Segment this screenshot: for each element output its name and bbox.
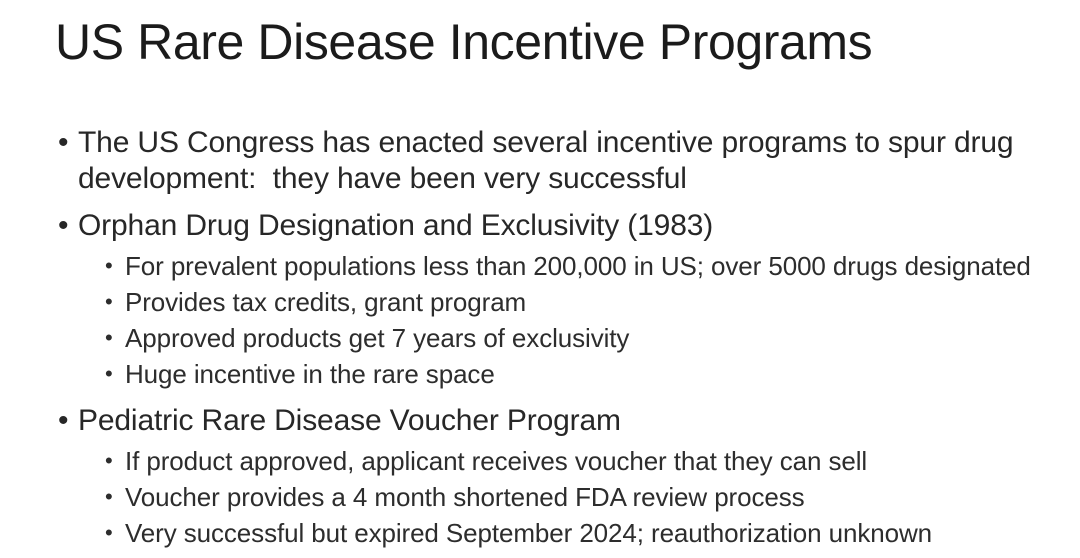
sub-bullet-marker-icon: •: [105, 320, 118, 356]
bullet-block: • Pediatric Rare Disease Voucher Program…: [0, 403, 1080, 551]
bullet-level1-text: The US Congress has enacted several ince…: [78, 126, 1022, 195]
bullet-level1: • Orphan Drug Designation and Exclusivit…: [0, 208, 1080, 244]
slide-canvas: US Rare Disease Incentive Programs • The…: [0, 0, 1080, 558]
bullet-level2-text: Provides tax credits, grant program: [125, 287, 526, 317]
sub-bullet-list: • If product approved, applicant receive…: [0, 443, 1080, 551]
sub-bullet-marker-icon: •: [105, 284, 118, 320]
bullet-marker-icon: •: [58, 125, 72, 161]
bullet-level1: • Pediatric Rare Disease Voucher Program: [0, 403, 1080, 439]
sub-bullet-marker-icon: •: [105, 515, 118, 551]
bullet-marker-icon: •: [58, 403, 72, 439]
bullet-level2-text: Approved products get 7 years of exclusi…: [125, 323, 629, 353]
bullet-marker-icon: •: [58, 208, 72, 244]
bullet-level2-text: If product approved, applicant receives …: [125, 446, 867, 476]
bullet-level2-text: Very successful but expired September 20…: [125, 518, 932, 548]
bullet-level2: • Huge incentive in the rare space: [0, 356, 1080, 392]
bullet-level2-text: Voucher provides a 4 month shortened FDA…: [125, 482, 805, 512]
bullet-block: • The US Congress has enacted several in…: [0, 125, 1080, 197]
page-title: US Rare Disease Incentive Programs: [55, 13, 872, 71]
bullet-level2: • Provides tax credits, grant program: [0, 284, 1080, 320]
bullet-level2: • Very successful but expired September …: [0, 515, 1080, 551]
bullet-level2: • If product approved, applicant receive…: [0, 443, 1080, 479]
bullet-list: • The US Congress has enacted several in…: [0, 125, 1080, 551]
sub-bullet-list: • For prevalent populations less than 20…: [0, 248, 1080, 392]
bullet-level2: • Approved products get 7 years of exclu…: [0, 320, 1080, 356]
sub-bullet-marker-icon: •: [105, 479, 118, 515]
sub-bullet-marker-icon: •: [105, 356, 118, 392]
bullet-level1-text: Pediatric Rare Disease Voucher Program: [78, 404, 621, 437]
bullet-level1-text: Orphan Drug Designation and Exclusivity …: [78, 209, 713, 242]
bullet-level2: • Voucher provides a 4 month shortened F…: [0, 479, 1080, 515]
bullet-level2: • For prevalent populations less than 20…: [0, 248, 1080, 284]
bullet-block: • Orphan Drug Designation and Exclusivit…: [0, 208, 1080, 392]
bullet-level2-text: For prevalent populations less than 200,…: [125, 251, 1031, 281]
bullet-level1: • The US Congress has enacted several in…: [0, 125, 1080, 197]
sub-bullet-marker-icon: •: [105, 443, 118, 479]
bullet-level2-text: Huge incentive in the rare space: [125, 359, 495, 389]
sub-bullet-marker-icon: •: [105, 248, 118, 284]
